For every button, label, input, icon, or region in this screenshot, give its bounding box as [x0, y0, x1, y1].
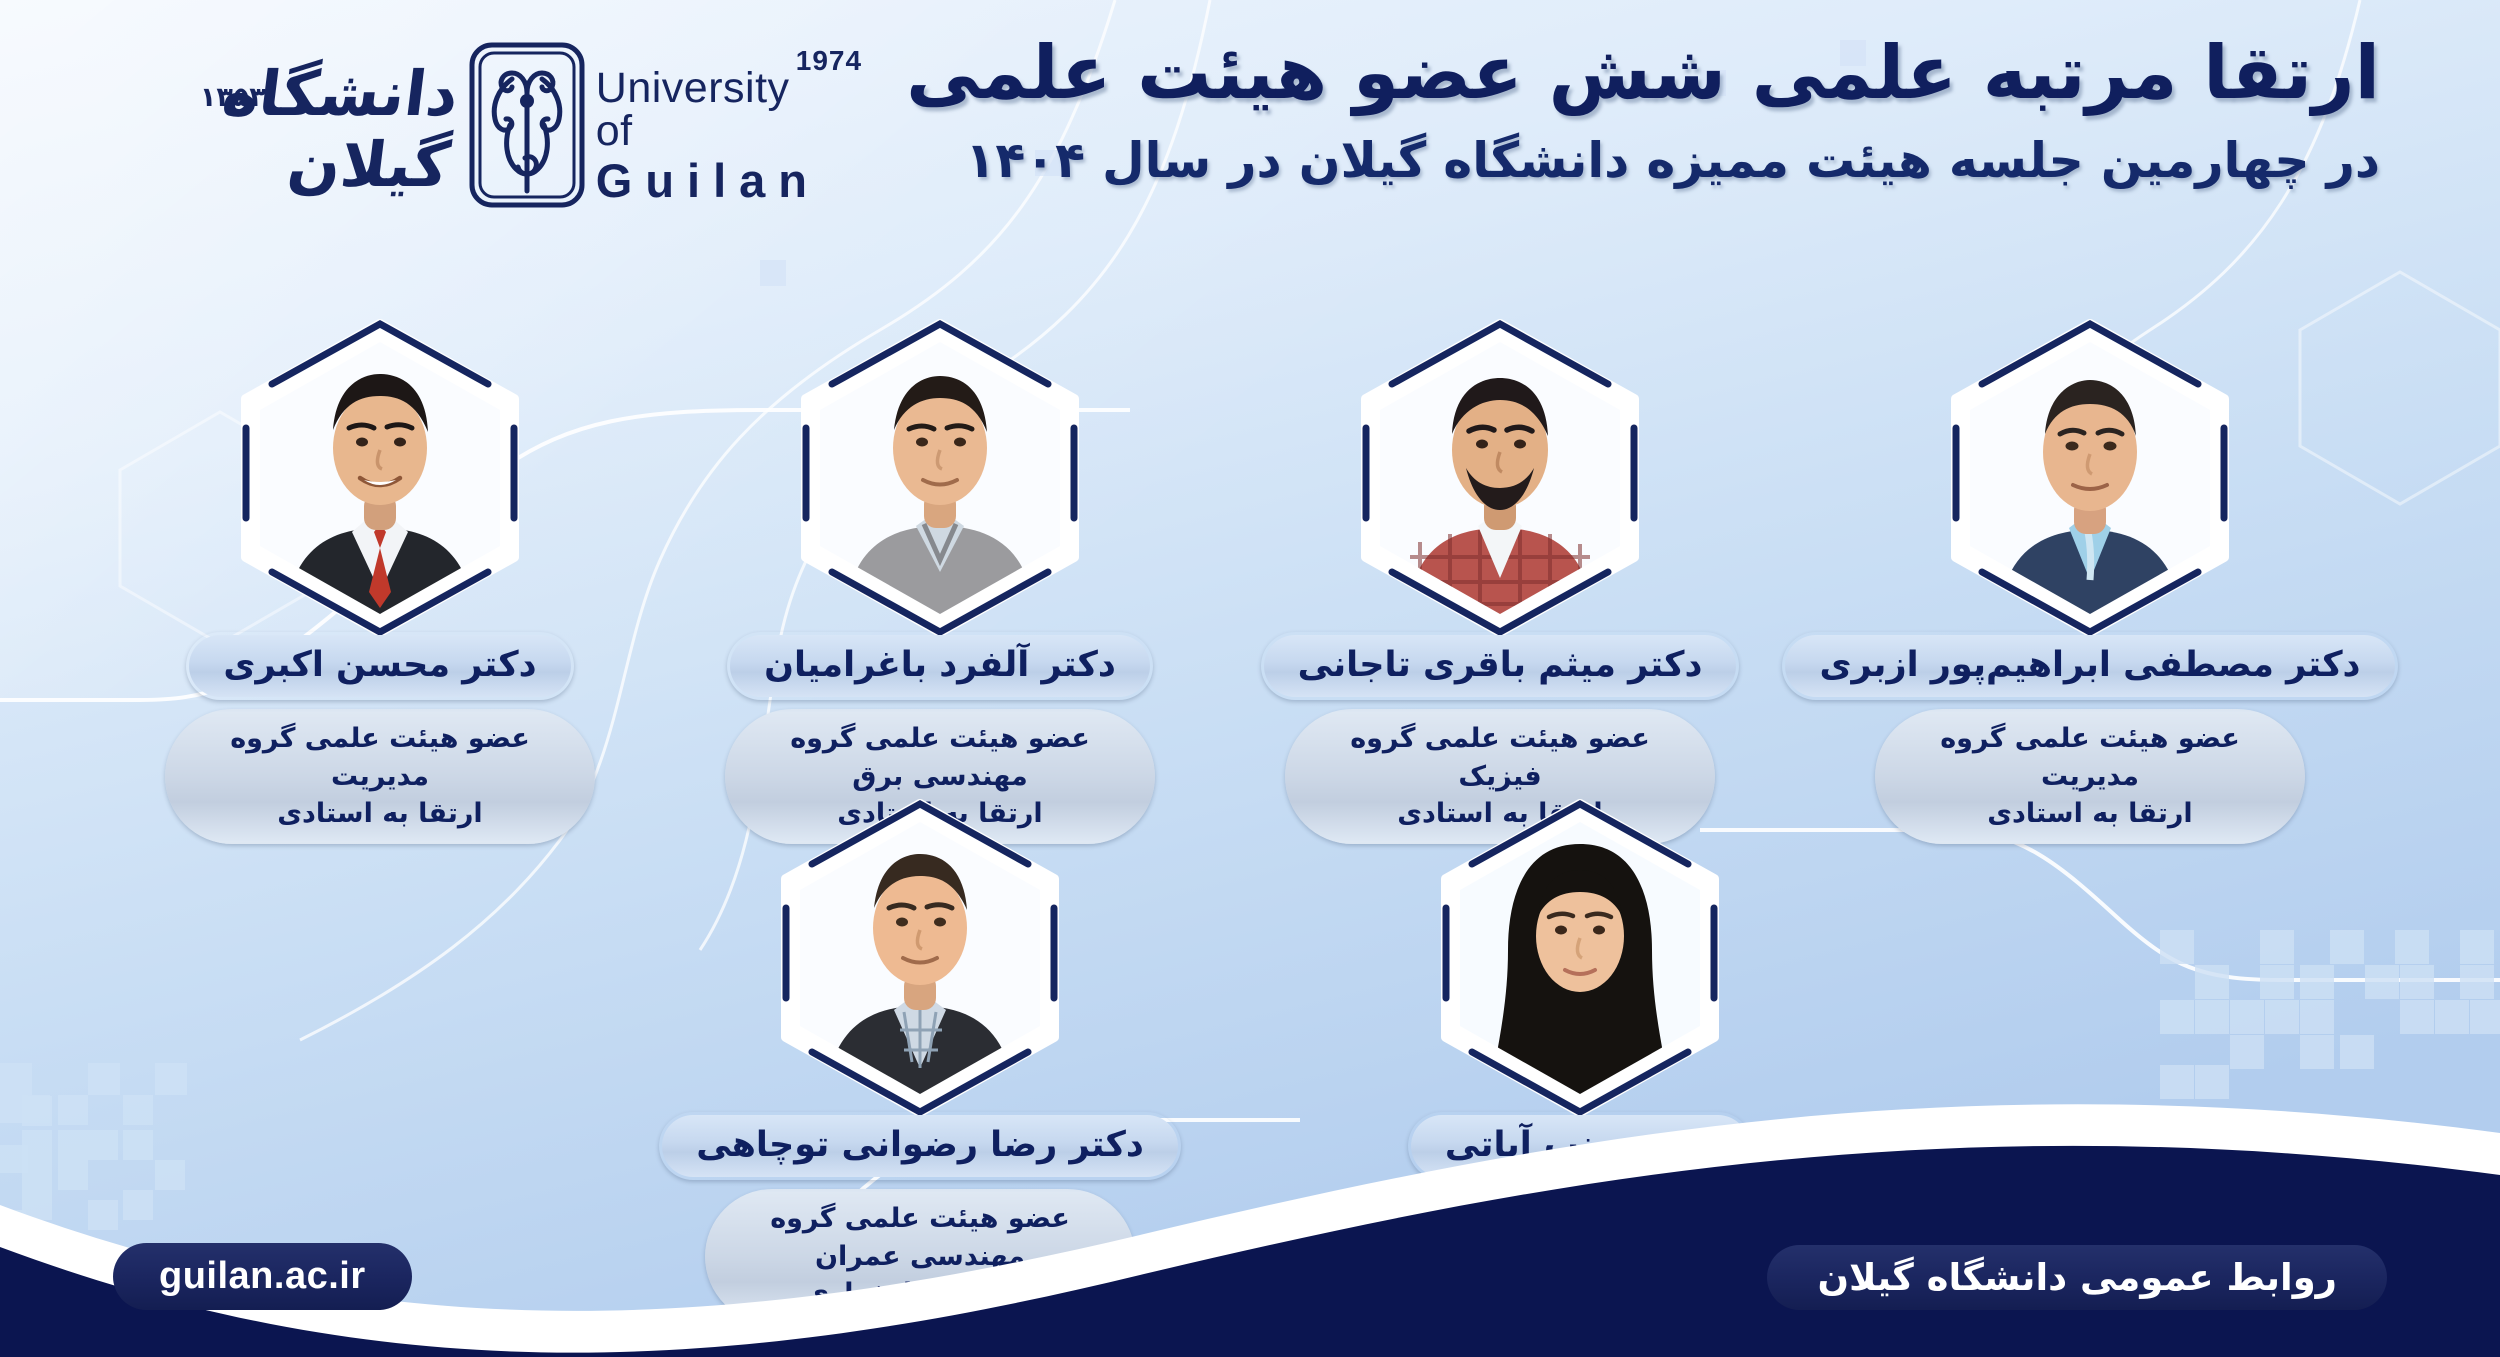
person-card[interactable]: دکتر مصطفی ابراهیم‌پور ازبری عضو هیئت عل…: [1820, 318, 2360, 844]
photo-frame: [234, 318, 526, 638]
guilan-emblem-icon: [468, 41, 586, 209]
person-name: دکتر آلفرد باغرامیان: [727, 632, 1153, 700]
logo-english-text: 1974 University of Guilan: [596, 45, 820, 204]
people-row-top: دکتر مصطفی ابراهیم‌پور ازبری عضو هیئت عل…: [0, 318, 2500, 844]
photo-frame: [1354, 318, 1646, 638]
logo-founding-year-gregorian: 1974: [796, 47, 862, 75]
logo-persian-name: دانشگاه گیلان: [111, 58, 462, 201]
person-name: دکتر مصطفی ابراهیم‌پور ازبری: [1782, 632, 2397, 700]
logo-guilan-label: Guilan: [596, 157, 820, 204]
poster-title: ارتقا مرتبه علمی شش عضو هیئت علمی: [900, 30, 2380, 117]
person-name: دکتر محسن اکبری: [186, 632, 573, 700]
person-card[interactable]: دکتر میثم باقری تاجانی عضو هیئت علمی گرو…: [1260, 318, 1740, 844]
poster-subtitle: در چهارمین جلسه هیئت ممیزه دانشگاه گیلان…: [900, 129, 2380, 193]
logo-persian-text: ۱۳۵۳ دانشگاه گیلان: [120, 48, 454, 201]
emblem-svg: [468, 41, 586, 209]
public-relations-badge: روابط عمومی دانشگاه گیلان: [1764, 1242, 2390, 1313]
website-url-badge[interactable]: guilan.ac.ir: [110, 1240, 415, 1313]
university-logo: 1974 University of Guilan: [120, 42, 820, 207]
person-card[interactable]: دکتر محسن اکبری عضو هیئت علمی گروه مدیری…: [140, 318, 620, 844]
photo-frame: [1944, 318, 2236, 638]
logo-university-of-label: University of: [596, 67, 820, 153]
photo-frame: [794, 318, 1086, 638]
person-card[interactable]: دکتر آلفرد باغرامیان عضو هیئت علمی گروه …: [700, 318, 1180, 844]
person-name: دکتر میثم باقری تاجانی: [1261, 632, 1740, 700]
title-block: ارتقا مرتبه علمی شش عضو هیئت علمی در چها…: [900, 30, 2380, 193]
poster-canvas: 1974 University of Guilan: [0, 0, 2500, 1357]
poster-header: 1974 University of Guilan: [0, 0, 2500, 300]
